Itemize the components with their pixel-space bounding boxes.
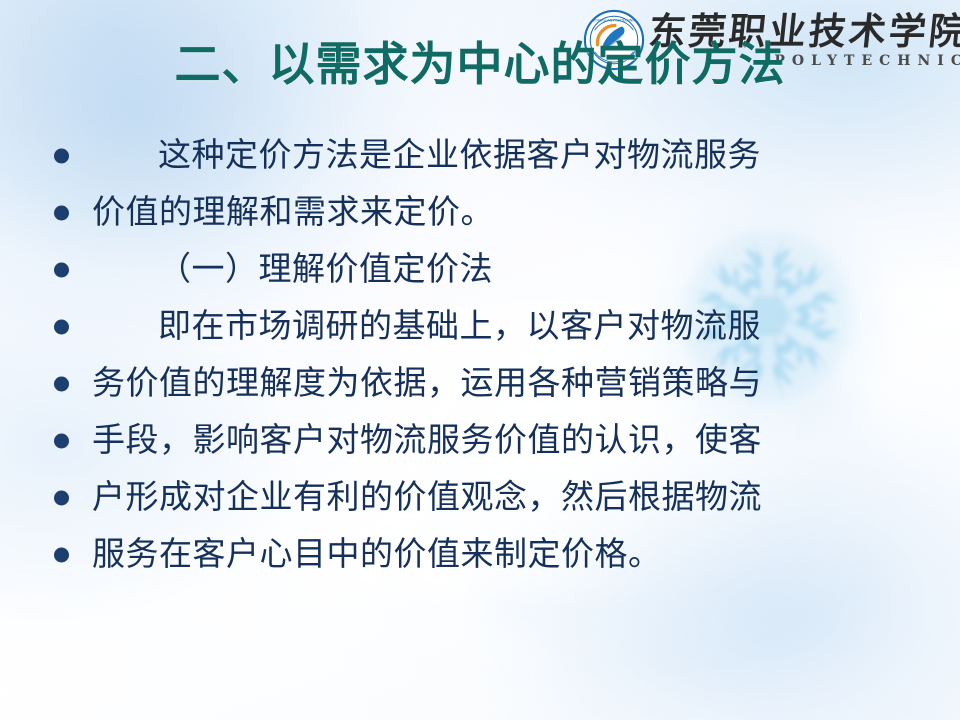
list-item: 户形成对企业有利的价值观念，然后根据物流 [0, 469, 960, 526]
presentation-slide: DONGGUAN POLYTECHNIC 东莞职业技术学院 POLYTECHNI… [0, 0, 960, 720]
list-item: 服务在客户心目中的价值来制定价格。 [0, 526, 960, 583]
bullet-icon [54, 148, 69, 163]
svg-text:DONGGUAN POLYTECHNIC: DONGGUAN POLYTECHNIC [592, 19, 636, 23]
list-item-text: 手段，影响客户对物流服务价值的认识，使客 [92, 422, 762, 458]
list-item: 务价值的理解度为依据，运用各种营销策略与 [0, 355, 960, 412]
list-item-text: 务价值的理解度为依据，运用各种营销策略与 [92, 365, 762, 401]
bullet-icon [54, 262, 69, 277]
bullet-icon [54, 319, 69, 334]
list-item-text: 户形成对企业有利的价值观念，然后根据物流 [92, 479, 762, 515]
bullet-icon [54, 433, 69, 448]
bullet-icon [54, 205, 69, 220]
list-item: 即在市场调研的基础上，以客户对物流服 [0, 298, 960, 355]
list-item-text: 价值的理解和需求来定价。 [92, 194, 494, 230]
list-item: 这种定价方法是企业依据客户对物流服务 [0, 127, 960, 184]
list-item-text: 这种定价方法是企业依据客户对物流服务 [92, 137, 761, 173]
list-item-text: 服务在客户心目中的价值来制定价格。 [92, 536, 662, 572]
list-item: 手段，影响客户对物流服务价值的认识，使客 [0, 412, 960, 469]
list-item-text: （一）理解价值定价法 [92, 251, 493, 287]
slide-body-list: 这种定价方法是企业依据客户对物流服务 价值的理解和需求来定价。 （一）理解价值定… [0, 127, 960, 583]
list-item: 价值的理解和需求来定价。 [0, 184, 960, 241]
slide-title: 二、以需求为中心的定价方法 [0, 40, 960, 90]
bullet-icon [54, 490, 69, 505]
list-item: （一）理解价值定价法 [0, 241, 960, 298]
list-item-text: 即在市场调研的基础上，以客户对物流服 [92, 308, 761, 344]
bullet-icon [54, 547, 69, 562]
bullet-icon [54, 376, 69, 391]
